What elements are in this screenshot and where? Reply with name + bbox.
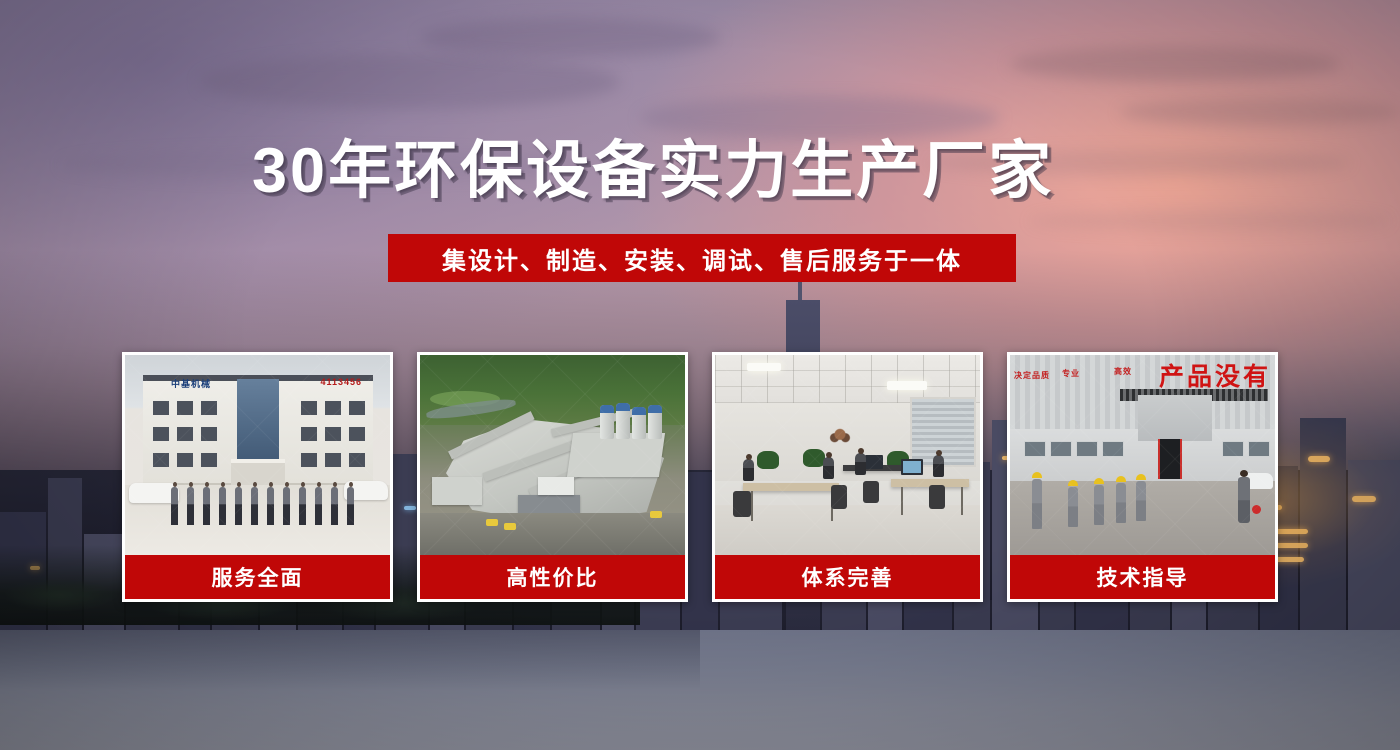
card-caption: 高性价比 xyxy=(420,555,685,599)
feature-card[interactable]: 中基机械 4113456 xyxy=(122,352,393,602)
factory-wall-slogan-sub1: 决定品质 xyxy=(1014,371,1050,381)
card-caption-text: 高性价比 xyxy=(507,562,599,592)
cloud-band xyxy=(1120,98,1400,126)
card-caption: 技术指导 xyxy=(1010,555,1275,599)
card-caption-text: 体系完善 xyxy=(802,562,894,592)
banner-stage: 30年环保设备实力生产厂家 集设计、制造、安装、调试、售后服务于一体 中基机械 … xyxy=(0,0,1400,750)
feature-card-list: 中基机械 4113456 xyxy=(122,352,1278,602)
cloud-band xyxy=(1010,46,1340,82)
factory-wall-slogan: 产品没有 xyxy=(1159,357,1271,393)
card-caption-text: 服务全面 xyxy=(212,562,304,592)
card-caption-text: 技术指导 xyxy=(1097,562,1189,592)
factory-wall-slogan-left2: 高效 xyxy=(1114,367,1132,377)
card-photo-office-building: 中基机械 4113456 xyxy=(125,355,390,555)
subtitle-text: 集设计、制造、安装、调试、售后服务于一体 xyxy=(442,241,962,276)
card-photo-workers-factory: 产品没有 决定品质 专业 高效 xyxy=(1010,355,1275,555)
feature-card[interactable]: 高性价比 xyxy=(417,352,688,602)
card-caption: 体系完善 xyxy=(715,555,980,599)
feature-card[interactable]: 体系完善 xyxy=(712,352,983,602)
cloud-band xyxy=(200,55,620,109)
building-sign-text: 中基机械 xyxy=(171,377,211,390)
card-photo-office-interior xyxy=(715,355,980,555)
factory-wall-slogan-left: 专业 xyxy=(1062,369,1080,379)
feature-card[interactable]: 产品没有 决定品质 专业 高效 xyxy=(1007,352,1278,602)
subtitle-banner: 集设计、制造、安装、调试、售后服务于一体 xyxy=(388,234,1016,282)
card-photo-industrial-plant xyxy=(420,355,685,555)
building-phone-number: 4113456 xyxy=(320,377,362,387)
card-caption: 服务全面 xyxy=(125,555,390,599)
page-title: 30年环保设备实力生产厂家 xyxy=(252,128,1152,214)
cloud-band xyxy=(420,18,720,58)
